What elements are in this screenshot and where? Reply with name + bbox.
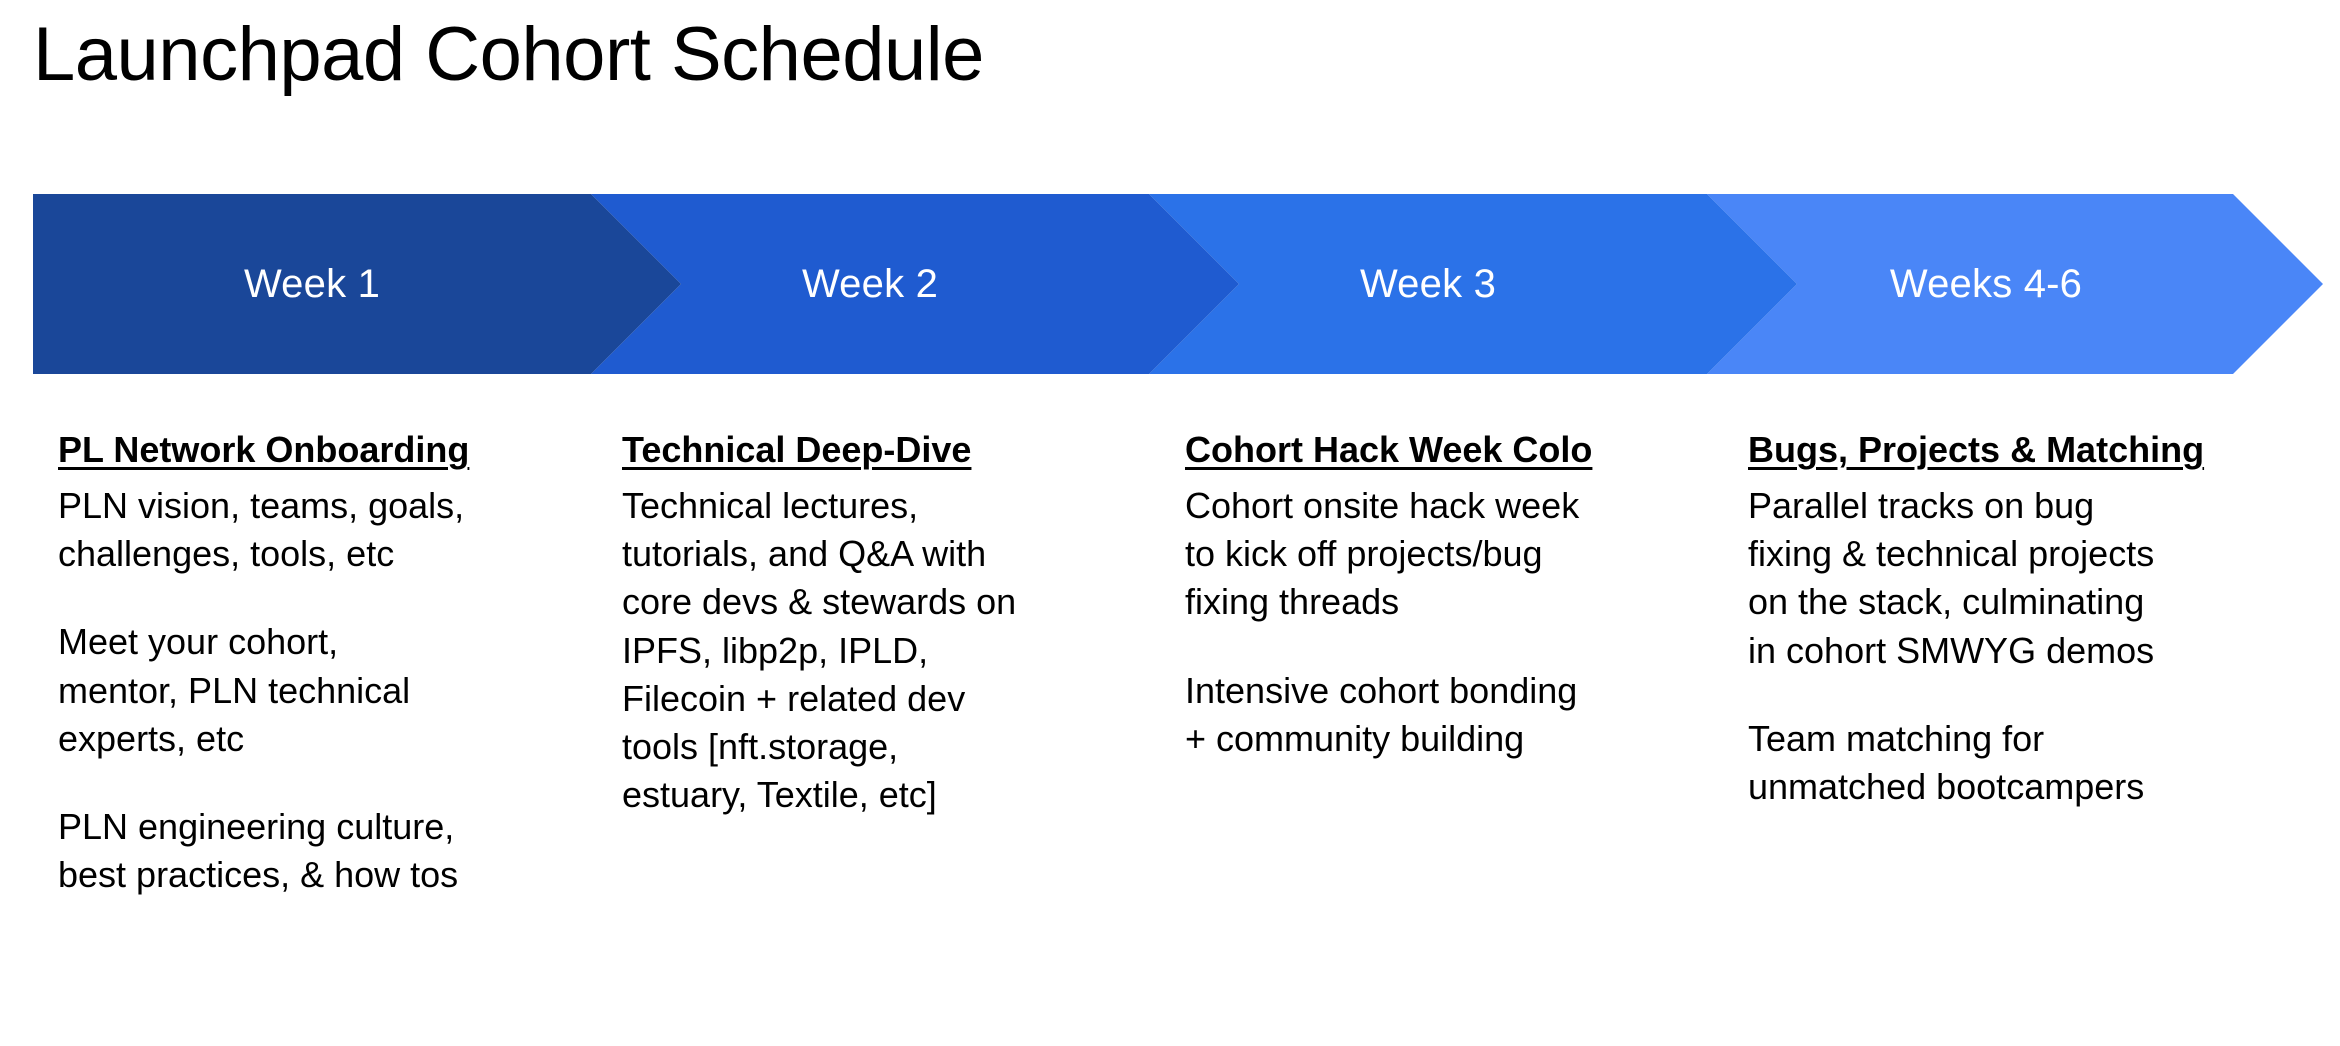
- column-paragraph: Parallel tracks on bug fixing & technica…: [1748, 482, 2308, 675]
- column-week-3: Cohort Hack Week Colo Cohort onsite hack…: [1185, 432, 1715, 763]
- column-paragraph: Cohort onsite hack week to kick off proj…: [1185, 482, 1715, 627]
- column-paragraph: Intensive cohort bonding + community bui…: [1185, 667, 1715, 763]
- week-chevron-timeline: Week 1 Week 2 Week 3 Weeks 4-6: [33, 194, 2323, 374]
- column-paragraph: Technical lectures, tutorials, and Q&A w…: [622, 482, 1152, 820]
- chevron-segment-4-shape: [1707, 194, 2323, 374]
- column-week-2: Technical Deep-Dive Technical lectures, …: [622, 432, 1152, 820]
- column-heading: Bugs, Projects & Matching: [1748, 432, 2308, 468]
- column-paragraph: PLN engineering culture, best practices,…: [58, 803, 588, 899]
- chevron-segment-3-shape: [1149, 194, 1797, 374]
- column-paragraph: Meet your cohort, mentor, PLN technical …: [58, 618, 588, 763]
- chevron-segment-1-shape: [33, 194, 681, 374]
- column-week-1: PL Network Onboarding PLN vision, teams,…: [58, 432, 588, 900]
- column-weeks-4-6: Bugs, Projects & Matching Parallel track…: [1748, 432, 2308, 811]
- chevron-segment-2-shape: [591, 194, 1239, 374]
- chevron-shapes: [33, 194, 2323, 374]
- column-heading: Cohort Hack Week Colo: [1185, 432, 1715, 468]
- page-title: Launchpad Cohort Schedule: [33, 12, 984, 97]
- column-paragraph: Team matching for unmatched bootcampers: [1748, 715, 2308, 811]
- description-columns: PL Network Onboarding PLN vision, teams,…: [0, 432, 2340, 1042]
- column-heading: PL Network Onboarding: [58, 432, 588, 468]
- column-paragraph: PLN vision, teams, goals, challenges, to…: [58, 482, 588, 578]
- column-heading: Technical Deep-Dive: [622, 432, 1152, 468]
